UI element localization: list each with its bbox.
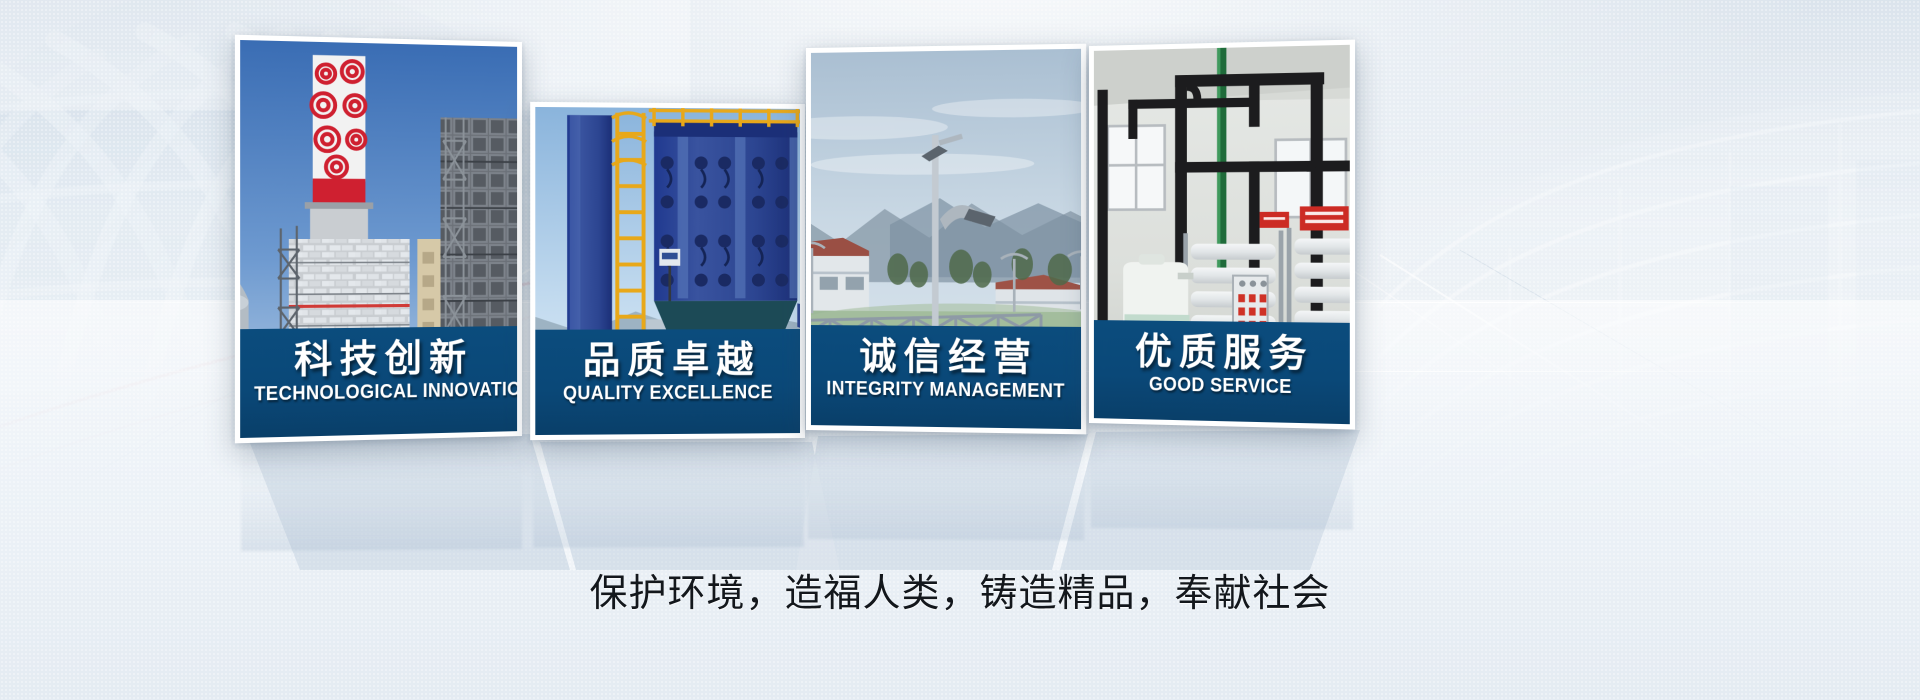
banner-tagline: 保护环境，造福人类，铸造精品，奉献社会 bbox=[0, 562, 1920, 617]
panel-title-en: TECHNOLOGICAL INNOVATION bbox=[254, 380, 504, 408]
panel-caption: 诚信经营 INTEGRITY MANAGEMENT bbox=[811, 325, 1081, 429]
panel-inner: 诚信经营 INTEGRITY MANAGEMENT bbox=[811, 49, 1081, 429]
value-panel-quality-excellence[interactable]: 品质卓越 QUALITY EXCELLENCE bbox=[530, 102, 805, 440]
panel-inner: 优质服务 GOOD SERVICE bbox=[1094, 45, 1350, 424]
panel-caption: 优质服务 GOOD SERVICE bbox=[1094, 320, 1350, 424]
panel-inner: 品质卓越 QUALITY EXCELLENCE bbox=[535, 107, 800, 435]
panel-title-cn: 诚信经营 bbox=[815, 335, 1077, 379]
value-panel-integrity-management[interactable]: 诚信经营 INTEGRITY MANAGEMENT bbox=[806, 44, 1086, 435]
values-banner: 科技创新 TECHNOLOGICAL INNOVATION bbox=[0, 0, 1920, 700]
panel-title-cn: 科技创新 bbox=[244, 336, 513, 382]
value-panel-good-service[interactable]: 优质服务 GOOD SERVICE bbox=[1089, 40, 1355, 430]
panel-caption: 品质卓越 QUALITY EXCELLENCE bbox=[535, 329, 800, 435]
panel-inner: 科技创新 TECHNOLOGICAL INNOVATION bbox=[240, 40, 517, 438]
value-panel-technological-innovation[interactable]: 科技创新 TECHNOLOGICAL INNOVATION bbox=[235, 35, 522, 444]
panel-title-en: INTEGRITY MANAGEMENT bbox=[824, 379, 1068, 405]
panel-title-cn: 品质卓越 bbox=[539, 339, 796, 382]
panel-title-cn: 优质服务 bbox=[1098, 330, 1346, 376]
panel-title-en: GOOD SERVICE bbox=[1106, 374, 1336, 402]
panel-title-en: QUALITY EXCELLENCE bbox=[548, 383, 787, 407]
panel-caption: 科技创新 TECHNOLOGICAL INNOVATION bbox=[240, 326, 517, 438]
